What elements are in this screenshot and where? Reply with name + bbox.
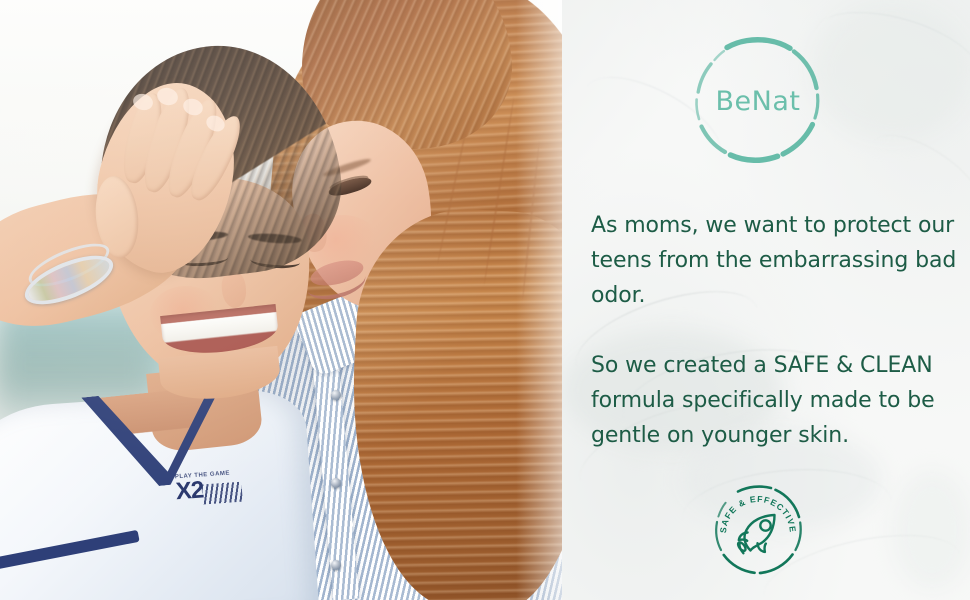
copy-paragraph-1: As moms, we want to protect our teens fr… <box>591 208 963 313</box>
safe-effective-badge[interactable]: SAFE & EFFECTIVE <box>710 482 806 578</box>
promo-copy: As moms, we want to protect our teens fr… <box>591 208 963 453</box>
content-panel: BeNat As moms, we want to protect our te… <box>562 0 970 600</box>
brand-logo-text: BeNat <box>690 34 826 170</box>
boy-jersey-logo: PLAY THE GAME X2 <box>175 470 244 515</box>
safe-effective-stamp-icon: SAFE & EFFECTIVE <box>710 482 806 578</box>
shirt-button <box>331 560 341 570</box>
rocket-icon <box>737 515 775 553</box>
copy-spacer <box>591 313 963 348</box>
jersey-logo-streak <box>201 482 242 505</box>
photo-stage: PLAY THE GAME X2 <box>0 0 562 600</box>
brand-logo[interactable]: BeNat <box>690 34 826 170</box>
badge-arc-text: SAFE & EFFECTIVE <box>718 494 798 534</box>
hero-photo: PLAY THE GAME X2 <box>0 0 562 600</box>
shirt-button <box>331 478 341 488</box>
copy-paragraph-2: So we created a SAFE & CLEAN formula spe… <box>591 348 963 453</box>
promo-banner: PLAY THE GAME X2 <box>0 0 970 600</box>
shirt-button <box>331 390 341 400</box>
